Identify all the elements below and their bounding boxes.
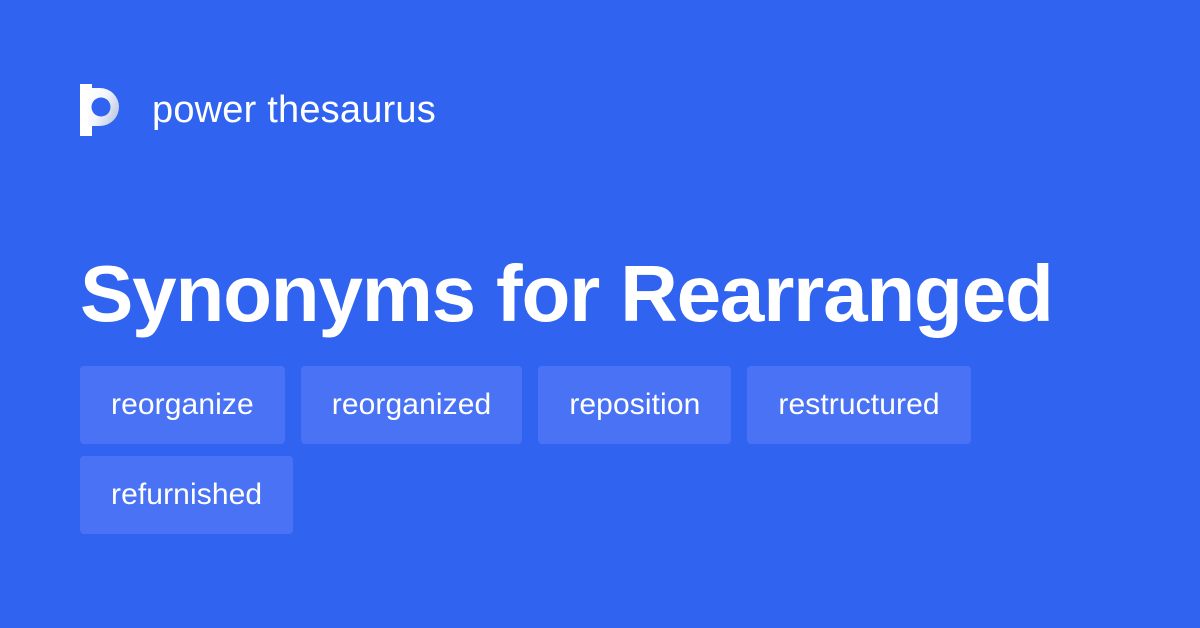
synonym-chip[interactable]: reposition [538,366,731,444]
brand-header[interactable]: power thesaurus [80,82,436,138]
synonym-chip-list: reorganize reorganized reposition restru… [80,366,1120,534]
synonyms-share-card: power thesaurus Synonyms for Rearranged … [0,0,1200,628]
power-thesaurus-logo-icon [80,82,128,138]
synonym-chip[interactable]: restructured [747,366,970,444]
synonym-chip[interactable]: reorganize [80,366,285,444]
synonym-chip[interactable]: reorganized [301,366,523,444]
synonym-chip[interactable]: refurnished [80,456,293,534]
page-title: Synonyms for Rearranged [80,252,1140,337]
brand-name: power thesaurus [152,91,436,129]
